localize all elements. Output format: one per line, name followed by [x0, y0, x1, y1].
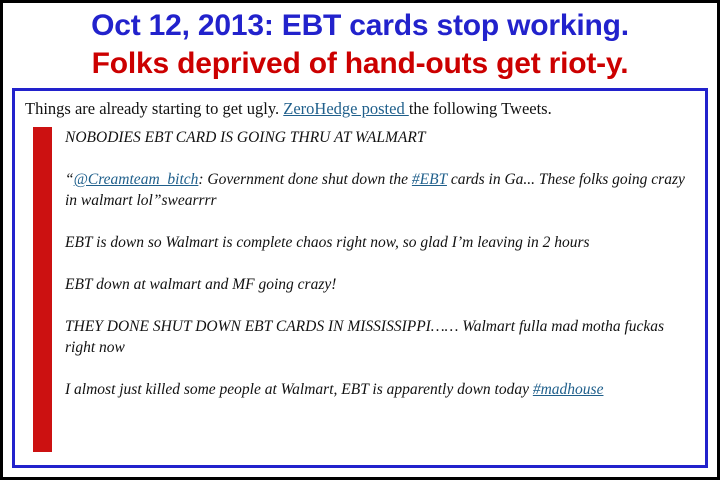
tweet-text: NOBODIES EBT CARD IS GOING THRU AT WALMA… — [65, 129, 425, 146]
tweet-text: EBT is down so Walmart is complete chaos… — [65, 234, 590, 251]
content-box: Things are already starting to get ugly.… — [12, 88, 708, 468]
tweet-link[interactable]: #EBT — [412, 171, 447, 188]
headline-block: Oct 12, 2013: EBT cards stop working. Fo… — [3, 3, 717, 85]
zerohedge-link[interactable]: ZeroHedge posted — [283, 99, 409, 118]
intro-text-before: Things are already starting to get ugly. — [25, 99, 283, 118]
tweet-list: NOBODIES EBT CARD IS GOING THRU AT WALMA… — [65, 127, 695, 400]
slide-frame: Oct 12, 2013: EBT cards stop working. Fo… — [0, 0, 720, 480]
tweet-text: : Government done shut down the — [198, 171, 412, 188]
headline-line-2: Folks deprived of hand-outs get riot-y. — [9, 45, 711, 83]
tweet-link[interactable]: #madhouse — [533, 381, 604, 398]
tweet-text: I almost just killed some people at Walm… — [65, 381, 533, 398]
tweet-item: EBT down at walmart and MF going crazy! — [65, 274, 695, 295]
headline-line-1: Oct 12, 2013: EBT cards stop working. — [9, 7, 711, 45]
tweet-item: “@Creamteam_bitch: Government done shut … — [65, 169, 695, 211]
quote-accent-bar — [33, 127, 52, 452]
tweet-item: EBT is down so Walmart is complete chaos… — [65, 232, 695, 253]
tweet-text: THEY DONE SHUT DOWN EBT CARDS IN MISSISS… — [65, 318, 664, 356]
tweet-item: THEY DONE SHUT DOWN EBT CARDS IN MISSISS… — [65, 316, 695, 358]
tweet-item: NOBODIES EBT CARD IS GOING THRU AT WALMA… — [65, 127, 695, 148]
tweet-text: “ — [65, 171, 74, 188]
intro-sentence: Things are already starting to get ugly.… — [25, 98, 695, 119]
tweet-quote-block: NOBODIES EBT CARD IS GOING THRU AT WALMA… — [25, 127, 695, 400]
intro-text-after: the following Tweets. — [409, 99, 552, 118]
tweet-item: I almost just killed some people at Walm… — [65, 379, 695, 400]
tweet-link[interactable]: @Creamteam_bitch — [74, 171, 199, 188]
tweet-text: EBT down at walmart and MF going crazy! — [65, 276, 336, 293]
